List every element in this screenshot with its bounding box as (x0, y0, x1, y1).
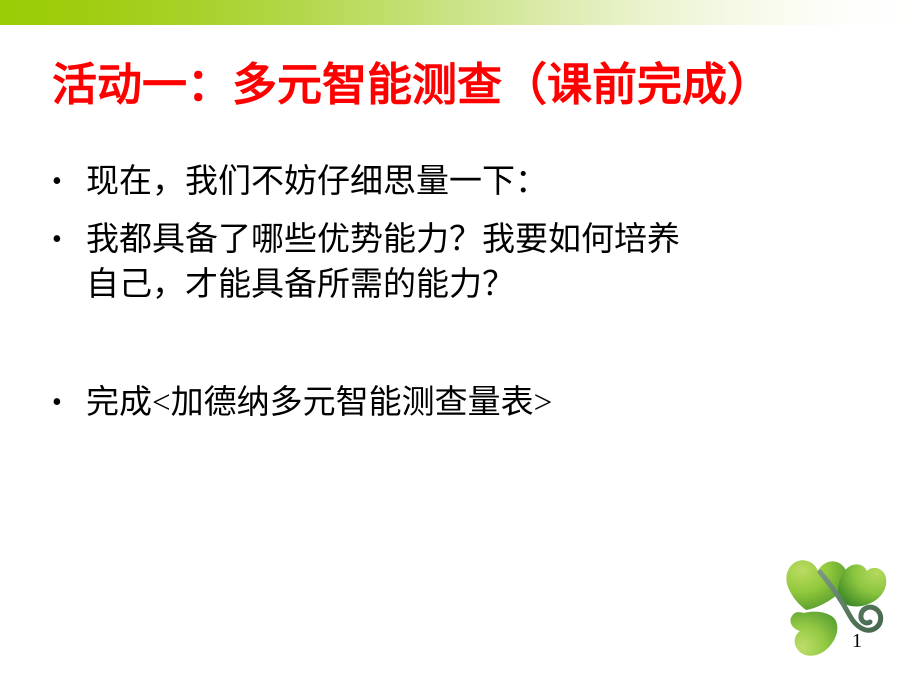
list-item: • 我都具备了哪些优势能力？我要如何培养 自己，才能具备所需的能力？ (52, 218, 882, 309)
clover-logo (776, 545, 896, 665)
clover-leaf-upper-right (838, 564, 886, 606)
text-line: 我都具备了哪些优势能力？我要如何培养 (86, 218, 882, 264)
list-item-text: 现在，我们不妨仔细思量一下： (86, 160, 882, 206)
list-item: • 现在，我们不妨仔细思量一下： (52, 160, 882, 206)
list-item-text: 完成<加德纳多元智能测查量表> (86, 381, 882, 427)
top-gradient-band (0, 0, 920, 25)
slide-body: • 现在，我们不妨仔细思量一下： • 我都具备了哪些优势能力？我要如何培养 自己… (52, 160, 882, 426)
clover-leaf-lower-left (790, 612, 837, 656)
bullet-marker-icon: • (52, 160, 86, 203)
bullet-marker-icon: • (52, 218, 86, 261)
bullet-marker-icon: • (52, 381, 86, 424)
list-item-text: 我都具备了哪些优势能力？我要如何培养 自己，才能具备所需的能力？ (86, 218, 882, 309)
text-line: 现在，我们不妨仔细思量一下： (86, 160, 882, 206)
list-item: • 完成<加德纳多元智能测查量表> (52, 381, 882, 427)
clover-leaf-upper-left (786, 560, 847, 610)
page-number: 1 (852, 630, 862, 653)
page-title: 活动一：多元智能测查（课前完成） (52, 60, 868, 112)
text-line: 完成<加德纳多元智能测查量表> (86, 381, 882, 427)
text-line: 自己，才能具备所需的能力？ (86, 263, 882, 309)
